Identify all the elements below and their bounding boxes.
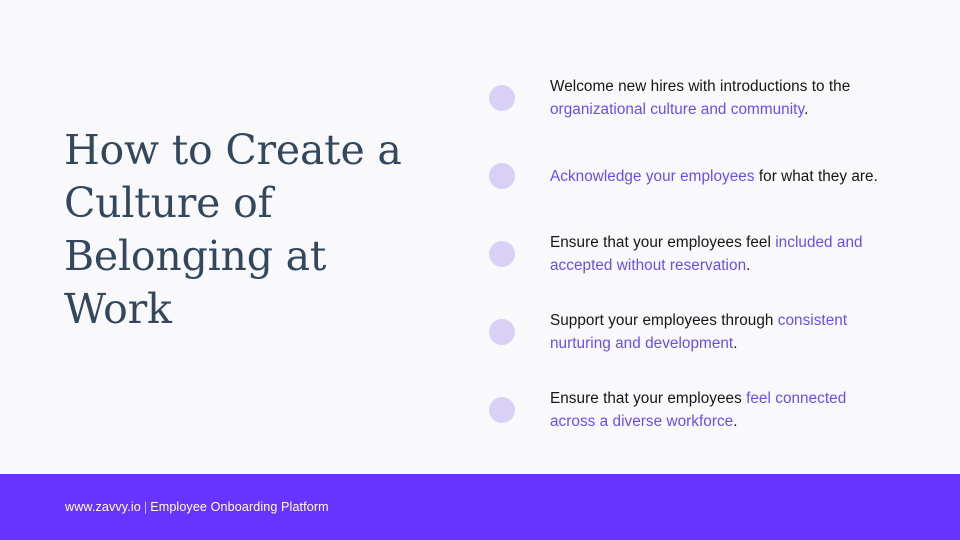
bullet-dot-icon [489, 397, 515, 423]
bullet-list: Welcome new hires with introductions to … [489, 72, 889, 436]
list-item: Welcome new hires with introductions to … [489, 72, 889, 124]
plain-phrase: . [746, 257, 750, 274]
list-item: Acknowledge your employees for what they… [489, 150, 889, 202]
plain-phrase: . [733, 335, 737, 352]
slide-canvas: How to Create a Culture of Belonging at … [0, 0, 960, 540]
list-item: Ensure that your employees feel included… [489, 228, 889, 280]
title-block: How to Create a Culture of Belonging at … [64, 124, 424, 336]
plain-phrase: for what they are. [755, 168, 878, 185]
plain-phrase: . [733, 413, 737, 430]
list-item: Support your employees through consisten… [489, 306, 889, 358]
list-item-text: Ensure that your employees feel included… [550, 231, 885, 277]
plain-phrase: Welcome new hires with introductions to … [550, 78, 850, 95]
list-item-text: Acknowledge your employees for what they… [550, 165, 885, 188]
plain-phrase: Support your employees through [550, 312, 778, 329]
plain-phrase: Ensure that your employees [550, 390, 746, 407]
list-item-text: Welcome new hires with introductions to … [550, 75, 885, 121]
footer-site: www.zavvy.io [65, 500, 141, 514]
highlighted-phrase[interactable]: Acknowledge your employees [550, 168, 755, 185]
list-item-text: Support your employees through consisten… [550, 309, 885, 355]
plain-phrase: Ensure that your employees feel [550, 234, 775, 251]
footer-tagline: Employee Onboarding Platform [150, 500, 329, 514]
plain-phrase: . [804, 101, 808, 118]
page-title: How to Create a Culture of Belonging at … [64, 124, 424, 336]
bullet-dot-icon [489, 85, 515, 111]
footer-bar: www.zavvy.io|Employee Onboarding Platfor… [0, 474, 960, 540]
footer-text: www.zavvy.io|Employee Onboarding Platfor… [65, 500, 329, 514]
bullet-dot-icon [489, 319, 515, 345]
list-item: Ensure that your employees feel connecte… [489, 384, 889, 436]
footer-separator: | [144, 500, 147, 514]
list-item-text: Ensure that your employees feel connecte… [550, 387, 885, 433]
bullet-dot-icon [489, 241, 515, 267]
highlighted-phrase[interactable]: organizational culture and community [550, 101, 804, 118]
bullet-dot-icon [489, 163, 515, 189]
